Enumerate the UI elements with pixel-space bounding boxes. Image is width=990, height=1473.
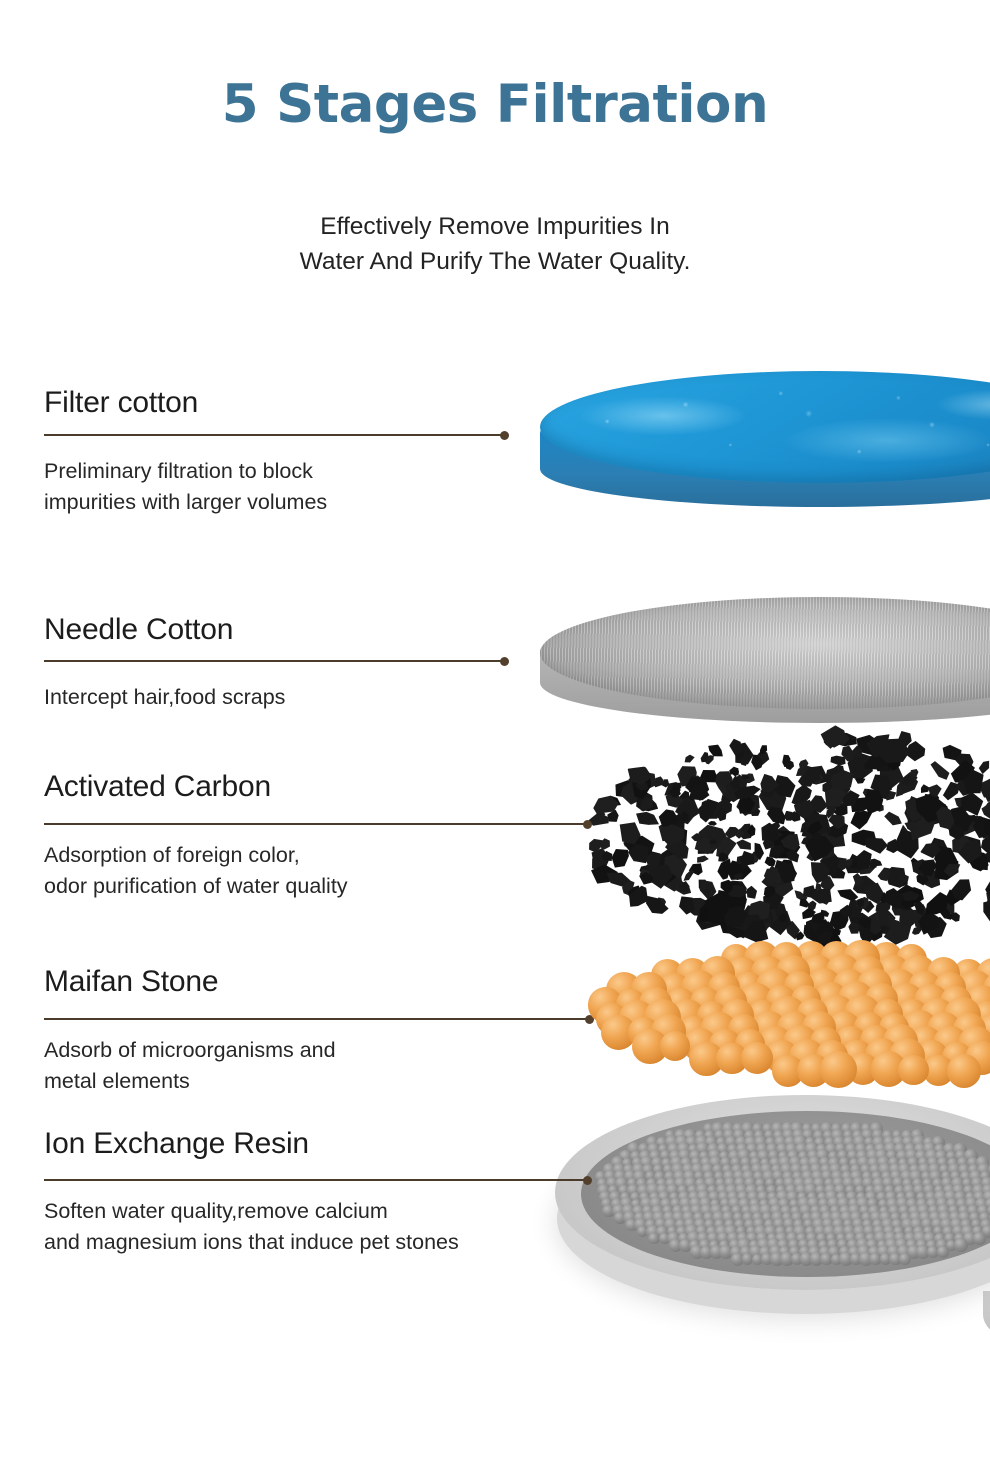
maifan-bead — [947, 1054, 981, 1088]
stage-heading: Needle Cotton — [44, 613, 233, 647]
connector-dot-filter-cotton — [500, 431, 509, 440]
stage-heading: Maifan Stone — [44, 965, 218, 999]
ion-exchange-resin-assembly — [555, 1095, 990, 1395]
stage-description: Adsorption of foreign color, odor purifi… — [44, 840, 348, 902]
connector-dot-needle-cotton — [500, 657, 509, 666]
page-title: 5 Stages Filtration — [0, 74, 990, 135]
carbon-chunk — [925, 757, 954, 785]
connector-line-ion-exchange-resin — [44, 1179, 588, 1181]
stage-block-maifan-stone: Maifan Stone — [44, 965, 218, 999]
stage-block-ion-exchange-resin: Ion Exchange Resin — [44, 1127, 309, 1161]
stage-description: Intercept hair,food scraps — [44, 682, 285, 713]
stage-description: Adsorb of microorganisms and metal eleme… — [44, 1035, 336, 1097]
page-subtitle: Effectively Remove Impurities In Water A… — [0, 209, 990, 279]
connector-line-needle-cotton — [44, 660, 505, 662]
stage-desc-maifan-stone: Adsorb of microorganisms and metal eleme… — [44, 1035, 336, 1097]
stage-description: Preliminary filtration to block impuriti… — [44, 456, 327, 518]
stage-desc-ion-exchange-resin: Soften water quality,remove calcium and … — [44, 1196, 459, 1258]
carbon-chunk — [879, 808, 905, 829]
stage-desc-needle-cotton: Intercept hair,food scraps — [44, 682, 285, 713]
connector-dot-ion-exchange-resin — [583, 1176, 592, 1185]
connector-line-maifan-stone — [44, 1018, 590, 1020]
stage-heading: Filter cotton — [44, 386, 198, 420]
stage-desc-filter-cotton: Preliminary filtration to block impuriti… — [44, 456, 327, 518]
carbon-chunk — [694, 853, 710, 865]
needle-cotton-disc — [540, 597, 990, 732]
stage-heading: Ion Exchange Resin — [44, 1127, 309, 1161]
stage-description: Soften water quality,remove calcium and … — [44, 1196, 459, 1258]
filter-cotton-disc — [540, 371, 990, 531]
stage-block-filter-cotton: Filter cotton — [44, 386, 198, 420]
maifan-bead — [820, 1051, 857, 1088]
connector-dot-activated-carbon — [583, 820, 592, 829]
connector-line-activated-carbon — [44, 823, 588, 825]
stage-block-activated-carbon: Activated Carbon — [44, 770, 271, 804]
maifan-bead — [898, 1055, 928, 1085]
stage-heading: Activated Carbon — [44, 770, 271, 804]
carbon-chunk — [735, 839, 755, 852]
stage-desc-activated-carbon: Adsorption of foreign color, odor purifi… — [44, 840, 348, 902]
resin-housing-nub — [983, 1291, 990, 1337]
maifan-bead — [660, 1031, 690, 1061]
stage-block-needle-cotton: Needle Cotton — [44, 613, 233, 647]
maifan-bead — [741, 1042, 773, 1074]
activated-carbon-chunks — [575, 725, 990, 955]
resin-bead — [973, 1232, 986, 1245]
connector-line-filter-cotton — [44, 434, 505, 436]
carbon-chunk — [682, 752, 696, 765]
infographic-page: 5 Stages Filtration Effectively Remove I… — [0, 0, 990, 1473]
